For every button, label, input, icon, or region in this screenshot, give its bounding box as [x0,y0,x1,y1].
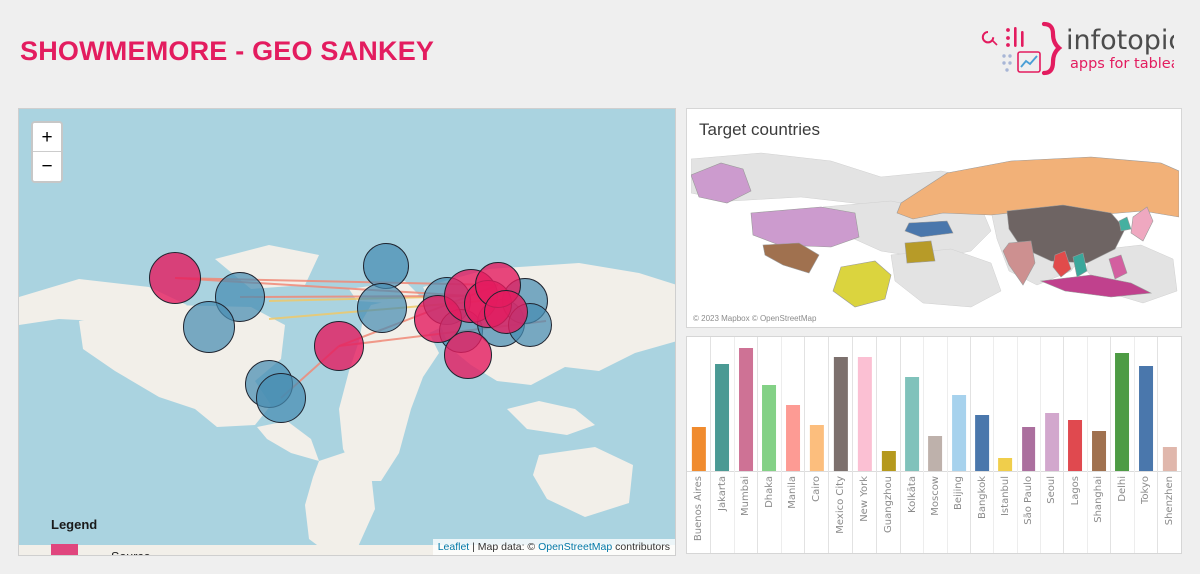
bar-plot-area [1018,337,1040,471]
map-marker-target[interactable] [183,301,235,353]
bar-category-label: Shanghai [1093,476,1104,523]
bar-axis-label: Seoul [1041,471,1063,553]
map-marker-source[interactable] [149,252,201,304]
bar-cell[interactable]: Bangkok [971,337,994,553]
bar-category-label: Manila [787,476,798,509]
bar-plot-area [971,337,993,471]
dashboard-header: SHOWMEMORE - GEO SANKEY [0,0,1200,100]
bar-axis-label: Mexico City [829,471,852,553]
bar-plot-area [829,337,852,471]
map-marker-target[interactable] [363,243,409,289]
bar-rect[interactable] [1068,420,1082,471]
bar-cell[interactable]: Dhaka [758,337,782,553]
bar-axis-label: Shenzhen [1158,471,1181,553]
bar-panel: DelhiTokyo [1111,337,1158,553]
bar-category-label: New York [859,476,870,522]
bar-rect[interactable] [715,364,729,471]
bar-panel: Mexico City [829,337,853,553]
plus-icon[interactable]: + [33,123,61,152]
bar-axis-label: Jakarta [711,471,734,553]
bar-category-label: Bangkok [977,476,988,519]
bar-panel: Guangzhou [877,337,901,553]
map-legend: Legend Source Target [51,517,151,556]
bar-cell[interactable]: Mexico City [829,337,852,553]
bar-rect[interactable] [739,348,753,471]
legend-swatch-source [51,544,78,557]
bar-category-label: Tokyo [1140,476,1151,504]
legend-title: Legend [51,517,151,532]
target-countries-title: Target countries [699,120,820,140]
bar-cell[interactable]: Shenzhen [1158,337,1181,553]
bar-cell[interactable]: Guangzhou [877,337,900,553]
bar-category-label: Mexico City [835,476,846,534]
bar-cell[interactable]: Shanghai [1088,337,1111,553]
bar-plot-area [758,337,781,471]
bar-rect[interactable] [929,436,943,471]
bar-axis-label: Cairo [805,471,828,553]
legend-item-source[interactable]: Source [51,541,151,556]
map-zoom-controls[interactable]: + − [31,121,63,183]
svg-text:infotopics: infotopics [1066,25,1174,56]
bar-axis-label: Dhaka [758,471,781,553]
bar-axis-label: Kolkāta [901,471,923,553]
bar-panel: BangkokIstanbulSão PauloSeoul [971,337,1064,553]
bar-axis-label: Guangzhou [877,471,900,553]
bar-rect[interactable] [1092,431,1106,471]
bar-rect[interactable] [952,395,966,471]
bar-rect[interactable] [786,405,800,471]
bar-axis-label: Delhi [1111,471,1134,553]
right-column: Target countries [686,108,1182,554]
legend-label-source: Source [111,550,151,556]
map-attribution: Leaflet | Map data: © OpenStreetMap cont… [433,539,675,555]
bar-category-label: Kolkāta [907,476,918,513]
bar-category-label: Lagos [1070,476,1081,505]
bar-category-label: Cairo [811,476,822,502]
bar-cell[interactable]: Lagos [1064,337,1088,553]
bar-rect[interactable] [833,357,847,471]
geo-egypt [905,241,935,263]
bar-plot-area [735,337,758,471]
bar-category-label: Beijing [953,476,964,510]
infotopics-logo-icon: infotopics apps for tableau [974,18,1174,80]
bar-cell[interactable]: Moscow [924,337,947,553]
bar-plot-area [782,337,805,471]
bar-rect[interactable] [1115,353,1129,471]
target-countries-map[interactable] [691,151,1179,309]
bar-category-label: Seoul [1046,476,1057,504]
bar-axis-label: Bangkok [971,471,993,553]
page-title: SHOWMEMORE - GEO SANKEY [20,36,434,67]
bar-category-label: Delhi [1117,476,1128,502]
bar-category-label: Shenzhen [1164,476,1175,525]
bar-plot-area [1041,337,1063,471]
map-marker-source[interactable] [314,321,364,371]
bar-plot-area [1088,337,1111,471]
bar-panel: Cairo [805,337,829,553]
attribution-separator: | [469,541,478,553]
bar-axis-label: New York [853,471,876,553]
bar-rect[interactable] [881,451,895,471]
map-marker-target[interactable] [256,373,306,423]
map-markers[interactable] [19,109,675,555]
target-countries-card[interactable]: Target countries [686,108,1182,328]
bar-cell[interactable]: New York [853,337,876,553]
bar-panel: Shenzhen [1158,337,1181,553]
bar-panel: New York [853,337,877,553]
bar-axis-label: Shanghai [1088,471,1111,553]
bar-cell[interactable]: Manila [782,337,805,553]
bar-rect[interactable] [809,425,823,471]
bar-panel: JakartaMumbai [711,337,758,553]
bar-plot-area [948,337,970,471]
map-marker-source[interactable] [444,331,492,379]
bar-rect[interactable] [857,357,871,471]
bar-axis-label: Manila [782,471,805,553]
map-marker-source[interactable] [484,290,528,334]
bar-plot-area [853,337,876,471]
bar-axis-label: Beijing [948,471,970,553]
bar-cell[interactable]: Istanbul [994,337,1017,553]
bar-plot-area [924,337,946,471]
bar-rect[interactable] [1045,413,1059,471]
bar-rect[interactable] [975,415,989,471]
bar-rect[interactable] [691,427,705,471]
bar-cell[interactable]: Mumbai [735,337,758,553]
bar-axis-label: Moscow [924,471,946,553]
bar-cell[interactable]: Delhi [1111,337,1135,553]
bar-plot-area [994,337,1016,471]
bar-plot-area [711,337,734,471]
bar-axis-label: São Paulo [1018,471,1040,553]
bar-cell[interactable]: Beijing [948,337,970,553]
bar-axis-label: Tokyo [1135,471,1158,553]
bar-rect[interactable] [1022,427,1036,471]
map-canvas[interactable] [19,109,675,555]
bar-cell[interactable]: Jakarta [711,337,735,553]
bar-rect[interactable] [905,377,919,471]
bar-axis-label: Istanbul [994,471,1016,553]
mapbox-attribution: © 2023 Mapbox © OpenStreetMap [693,314,816,323]
bar-cell[interactable]: Kolkāta [901,337,924,553]
bar-plot-area [1111,337,1134,471]
bar-rect[interactable] [998,458,1012,471]
target-cities-bar-chart[interactable]: Buenos AiresJakartaMumbaiDhakaManilaCair… [686,336,1182,554]
bar-axis-label: Buenos Aires [687,471,710,553]
bar-cell[interactable]: Buenos Aires [687,337,710,553]
bar-panel: KolkātaMoscowBeijing [901,337,971,553]
bar-plot-area [901,337,923,471]
bar-cell[interactable]: Tokyo [1135,337,1158,553]
bar-category-label: Dhaka [764,476,775,508]
bar-category-label: Mumbai [740,476,751,516]
bar-axis-label: Mumbai [735,471,758,553]
minus-icon[interactable]: − [33,152,61,181]
bar-rect[interactable] [762,385,776,471]
bar-category-label: Moscow [930,476,941,516]
map-marker-target[interactable] [357,283,407,333]
bar-plot-area [805,337,828,471]
bar-rect[interactable] [1139,366,1153,471]
bar-panel: DhakaManila [758,337,805,553]
bar-plot-area [687,337,710,471]
bar-plot-area [877,337,900,471]
attribution-suffix: contributors [612,541,670,553]
bar-plot-area [1064,337,1087,471]
dashboard-root: SHOWMEMORE - GEO SANKEY [0,0,1200,574]
attribution-prefix: Map data: © [478,541,538,553]
bar-category-label: Guangzhou [883,476,894,533]
bar-category-label: Jakarta [717,476,728,511]
bar-cell[interactable]: São Paulo [1018,337,1041,553]
bar-panel: Buenos Aires [687,337,711,553]
geo-sankey-map[interactable]: + − Legend Source Target Leaflet | Map d… [18,108,676,556]
bar-cell[interactable]: Seoul [1041,337,1063,553]
bar-plot-area [1158,337,1181,471]
leaflet-link[interactable]: Leaflet [438,541,470,553]
bar-rect[interactable] [1162,447,1176,471]
bar-plot-area [1135,337,1158,471]
bar-axis-label: Lagos [1064,471,1087,553]
bar-category-label: Buenos Aires [693,476,704,541]
bar-category-label: Istanbul [1000,476,1011,516]
openstreetmap-link[interactable]: OpenStreetMap [538,541,612,553]
bar-panel: LagosShanghai [1064,337,1111,553]
bar-cell[interactable]: Cairo [805,337,828,553]
bar-category-label: São Paulo [1023,476,1034,525]
svg-text:apps for tableau: apps for tableau [1070,56,1174,72]
